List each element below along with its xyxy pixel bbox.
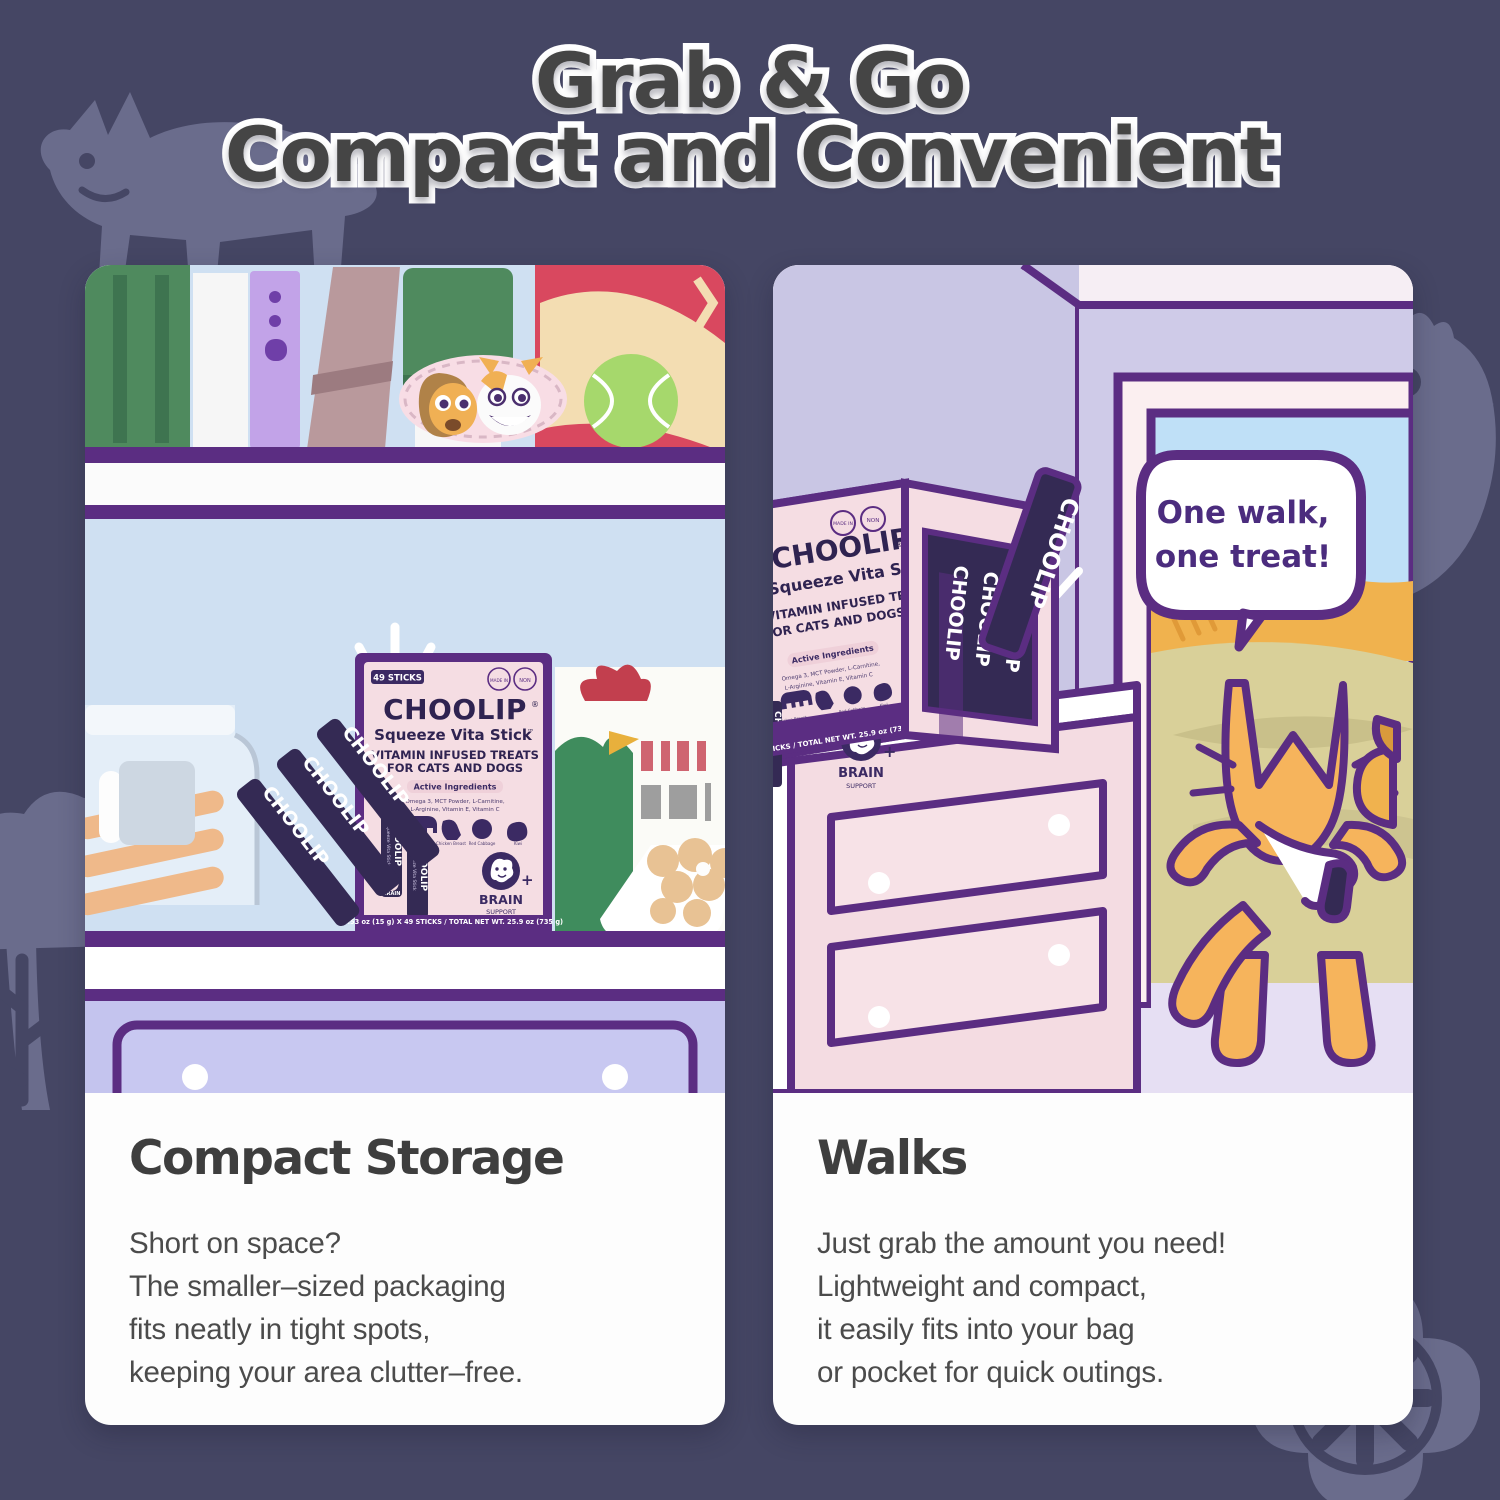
- svg-text:™: ™: [527, 728, 534, 736]
- svg-text:49 STICKS: 49 STICKS: [373, 674, 422, 684]
- svg-text:MADE IN: MADE IN: [833, 521, 853, 527]
- svg-text:0.53 oz (15 g) X 49 STICKS / T: 0.53 oz (15 g) X 49 STICKS / TOTAL NET W…: [343, 918, 563, 926]
- svg-text:L-Arginine, Vitamin E, Vitamin: L-Arginine, Vitamin E, Vitamin C: [410, 807, 499, 813]
- svg-text:Squeeze Vita Stick: Squeeze Vita Stick: [374, 726, 533, 744]
- card-body: Just grab the amount you need! Lightweig…: [817, 1222, 1369, 1394]
- cabinet-shelf-scene: 49 STICKS MADE IN NON CHOOLIP ® Squeeze …: [85, 265, 725, 1093]
- heading-line-2: Compact and Convenient: [225, 110, 1275, 199]
- svg-text:One walk,: One walk,: [1157, 495, 1330, 531]
- svg-text:+: +: [521, 871, 534, 889]
- card-title: Compact Storage: [129, 1131, 681, 1186]
- svg-text:BRAIN: BRAIN: [838, 766, 884, 781]
- svg-text:Kiwi: Kiwi: [514, 841, 522, 846]
- card-body: Short on space? The smaller–sized packag…: [129, 1222, 681, 1394]
- card-caption-compact-storage: Compact Storage Short on space? The smal…: [85, 1093, 725, 1394]
- svg-text:SUPPORT: SUPPORT: [846, 782, 876, 790]
- svg-text:Omega 3, MCT Powder, L-Carniti: Omega 3, MCT Powder, L-Carnitine,: [405, 799, 505, 805]
- svg-text:FOR CATS AND DOGS: FOR CATS AND DOGS: [387, 761, 523, 775]
- svg-text:one treat!: one treat!: [1155, 539, 1331, 575]
- svg-text:Chicken Breast: Chicken Breast: [436, 841, 466, 846]
- svg-text:MADE IN: MADE IN: [490, 678, 508, 683]
- svg-text:+: +: [883, 742, 896, 761]
- page-title: Grab & Go Compact and Convenient: [0, 44, 1500, 193]
- svg-text:NON: NON: [519, 678, 531, 684]
- card-title: Walks: [817, 1131, 1369, 1186]
- feature-card-walks: One walk, one treat!: [773, 265, 1413, 1425]
- svg-text:BRAIN: BRAIN: [479, 892, 523, 907]
- svg-text:Red Cabbage: Red Cabbage: [469, 841, 496, 846]
- svg-text:SUPPORT: SUPPORT: [486, 908, 516, 916]
- speech-bubble: One walk, one treat!: [1141, 455, 1361, 647]
- feature-card-compact-storage: 49 STICKS MADE IN NON CHOOLIP ® Squeeze …: [85, 265, 725, 1425]
- svg-text:®: ®: [531, 700, 539, 709]
- svg-text:Active Ingredients: Active Ingredients: [414, 783, 497, 792]
- svg-text:CHOOLIP: CHOOLIP: [383, 693, 527, 726]
- card-caption-walks: Walks Just grab the amount you need! Lig…: [773, 1093, 1413, 1394]
- doorway-walk-scene: One walk, one treat!: [773, 265, 1413, 1093]
- svg-text:NON: NON: [867, 518, 880, 524]
- svg-text:VITAMIN INFUSED TREATS: VITAMIN INFUSED TREATS: [371, 748, 539, 762]
